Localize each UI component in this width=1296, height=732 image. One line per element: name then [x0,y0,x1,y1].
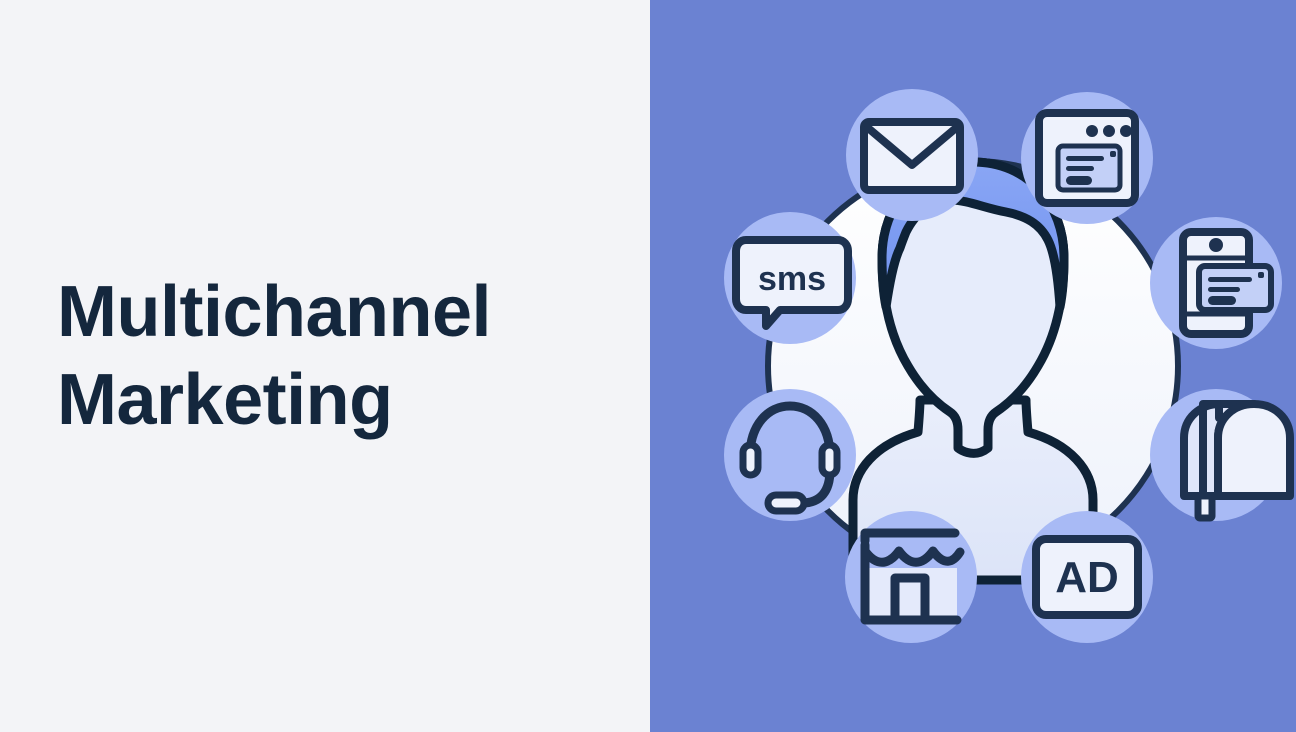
slide-canvas: Multichannel Marketing [0,0,1296,732]
left-panel: Multichannel Marketing [0,0,650,732]
sms-label: sms [758,260,826,298]
headset-earpiece-right [822,445,837,475]
sms-bubble-icon: sms [736,240,848,326]
browser-ad-line-1 [1066,156,1104,161]
envelope-icon [864,122,960,190]
ad-card-label: AD [1055,553,1119,602]
browser-ad-button [1066,176,1092,185]
page-title-line-1: Multichannel [57,268,617,356]
channel-retail-store[interactable] [845,511,977,643]
push-line-2 [1208,287,1240,292]
push-line-1 [1208,277,1252,282]
browser-dot-2 [1103,125,1115,137]
channel-call-center[interactable] [724,389,856,521]
channel-direct-mail[interactable] [1150,389,1290,521]
headset-microphone [768,495,804,511]
channel-mobile[interactable] [1150,217,1282,349]
page-title-line-2: Marketing [57,356,617,444]
browser-ad-badge [1110,151,1116,157]
channel-advertising[interactable]: AD [1021,511,1153,643]
multichannel-hub-illustration: AD [650,0,1296,732]
phone-camera [1209,238,1223,252]
push-badge [1258,272,1264,278]
channel-sms[interactable]: sms [724,212,856,344]
mailbox-post [1198,496,1212,518]
mailbox-right-body [1218,404,1290,496]
browser-dot-3 [1120,125,1132,137]
page-title: Multichannel Marketing [57,268,617,444]
channel-display-ad[interactable] [1021,92,1153,224]
headset-earpiece-left [743,445,758,475]
right-panel: AD [650,0,1296,732]
push-button [1208,296,1236,305]
browser-window-icon [1039,113,1135,203]
browser-dot-1 [1086,125,1098,137]
channel-email[interactable] [846,89,978,221]
browser-ad-line-2 [1066,166,1094,171]
